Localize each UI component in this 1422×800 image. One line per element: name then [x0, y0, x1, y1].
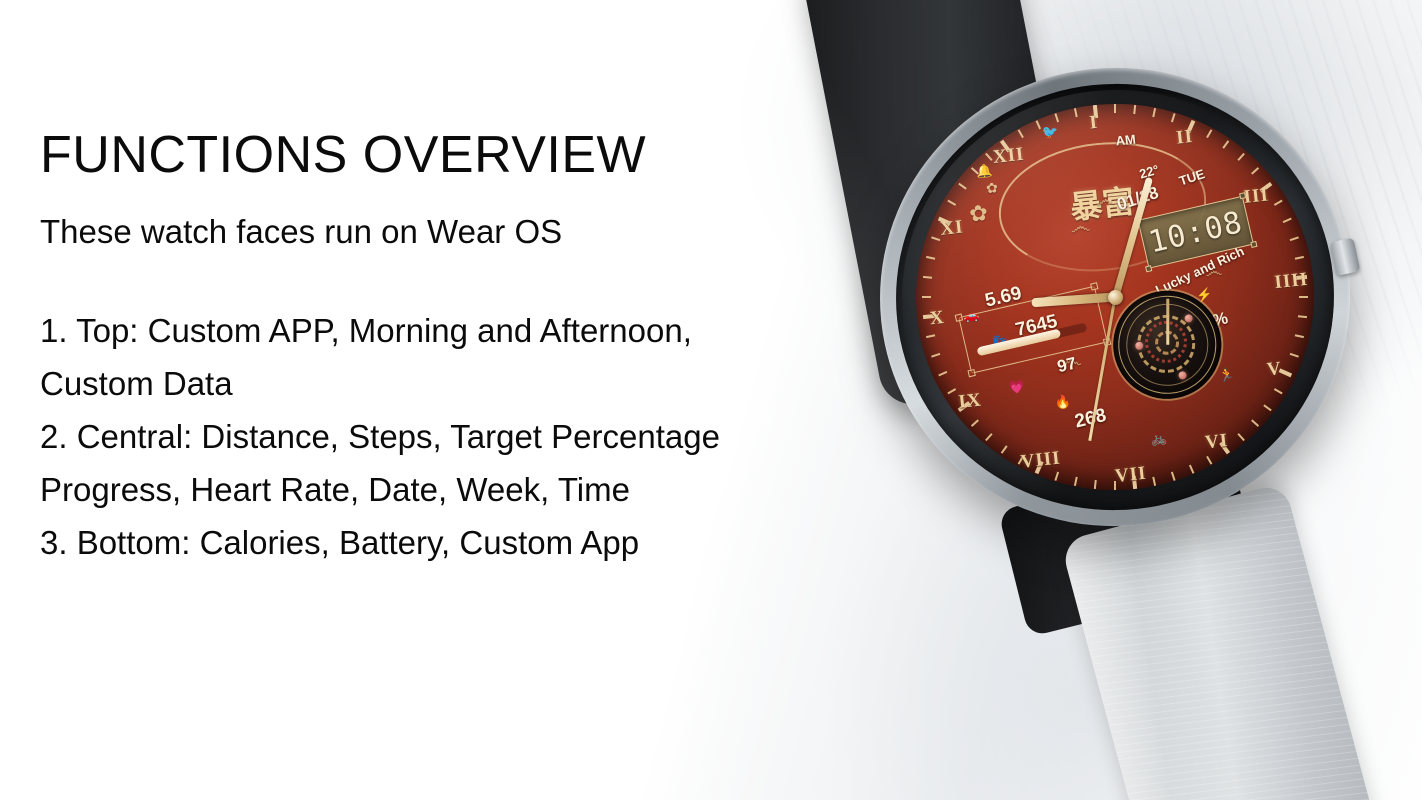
tourbillon-bridge: [1166, 299, 1169, 345]
minute-tick: [1133, 105, 1136, 114]
hour-numeral: VIII: [1020, 448, 1062, 474]
minute-tick: [1171, 472, 1176, 481]
minute-tick: [1189, 465, 1194, 474]
bird-icon: 🐦: [1042, 125, 1059, 140]
hour-numeral: IX: [958, 390, 983, 414]
minute-tick: [1295, 334, 1304, 338]
runner-icon: 🏃: [1218, 367, 1235, 382]
watch-crown-button[interactable]: [1330, 238, 1361, 276]
hour-numeral: II: [1175, 126, 1194, 150]
watch-strap-lower: [1060, 482, 1377, 800]
minute-tick: [1251, 167, 1259, 175]
minute-tick: [1299, 296, 1308, 298]
minute-tick: [985, 153, 993, 161]
hands-center-cap: [1107, 289, 1123, 305]
minute-tick: [1290, 353, 1299, 358]
bell-icon: 🔔: [975, 164, 992, 179]
minute-tick: [1001, 445, 1008, 453]
frame-corner: [955, 313, 963, 321]
bicycle-icon: 🚲: [1150, 431, 1167, 446]
feature-list-line: 1. Top: Custom APP, Morning and Afternoo…: [40, 304, 900, 357]
watch-face-dial[interactable]: IIIIIIIIIIVVIVIIVIIIIXXXIXII 暴富 ෴ ෴ ෴ ෴ …: [897, 84, 1333, 509]
hour-numeral: VI: [1204, 430, 1229, 454]
feature-list-line: Progress, Heart Rate, Date, Week, Time: [40, 463, 900, 516]
cloud-motif: ෴: [1095, 187, 1117, 213]
minute-tick: [931, 236, 940, 241]
minute-tick: [1206, 456, 1212, 465]
minute-tick: [922, 296, 931, 298]
minute-tick: [1018, 129, 1024, 138]
minute-tick: [1237, 433, 1245, 441]
slide-text-column: FUNCTIONS OVERVIEW These watch faces run…: [40, 126, 900, 569]
minute-tick: [1283, 218, 1292, 223]
minute-tick: [1274, 388, 1283, 394]
smartwatch-product-photo: IIIIIIIIIIVVIVIIVIIIIXXXIXII 暴富 ෴ ෴ ෴ ෴ …: [860, 0, 1422, 800]
hour-numeral: XI: [939, 217, 964, 241]
feature-list-line: Custom Data: [40, 357, 900, 410]
minute-tick: [926, 256, 935, 260]
minute-tick: [971, 419, 979, 427]
hour-numeral: V: [1266, 358, 1283, 381]
feature-list: 1. Top: Custom APP, Morning and Afternoo…: [40, 304, 900, 569]
minute-tick: [926, 334, 935, 338]
minute-tick: [947, 388, 956, 394]
minute-tick: [1298, 315, 1307, 318]
feature-list-line: 3. Bottom: Calories, Battery, Custom App: [40, 516, 900, 569]
hour-numeral: VII: [1114, 463, 1148, 488]
minute-tick: [1237, 153, 1245, 161]
minute-tick: [1054, 113, 1059, 122]
minute-tick: [1036, 120, 1041, 129]
minute-tick: [1074, 108, 1078, 117]
minute-tick: [985, 433, 993, 441]
minute-tick: [1152, 108, 1156, 117]
minute-tick: [958, 183, 966, 190]
am-pm-indicator: AM: [1115, 132, 1137, 149]
minute-tick: [1171, 113, 1176, 122]
heart-rate-value: 97: [1055, 354, 1078, 378]
minute-tick: [1074, 477, 1078, 486]
flame-icon: 🔥: [1054, 395, 1071, 410]
minute-tick: [1263, 404, 1271, 411]
minute-tick: [947, 200, 956, 206]
feature-list-line: 2. Central: Distance, Steps, Target Perc…: [40, 410, 900, 463]
minute-tick: [1054, 472, 1059, 481]
minute-tick: [923, 276, 932, 279]
hour-numeral: XII: [992, 144, 1026, 169]
minute-tick: [1206, 129, 1212, 138]
page-subtitle: These watch faces run on Wear OS: [40, 212, 900, 252]
minute-tick: [931, 353, 940, 358]
cloud-motif: ෴: [1069, 214, 1091, 240]
minute-tick: [1094, 480, 1097, 489]
minute-tick: [1114, 104, 1116, 113]
hour-numeral: III: [1243, 184, 1270, 209]
minute-tick: [938, 371, 947, 376]
minute-tick: [1290, 236, 1299, 241]
page-title: FUNCTIONS OVERVIEW: [40, 126, 900, 184]
minute-tick: [1251, 419, 1259, 427]
minute-tick: [1152, 477, 1156, 486]
minute-tick: [1222, 140, 1229, 148]
hour-numeral: IIII: [1273, 269, 1309, 294]
minute-tick: [1295, 256, 1304, 260]
minute-tick: [1274, 200, 1283, 206]
heart-rate-icon: 💗: [1008, 379, 1025, 394]
hour-numeral: X: [929, 307, 946, 330]
